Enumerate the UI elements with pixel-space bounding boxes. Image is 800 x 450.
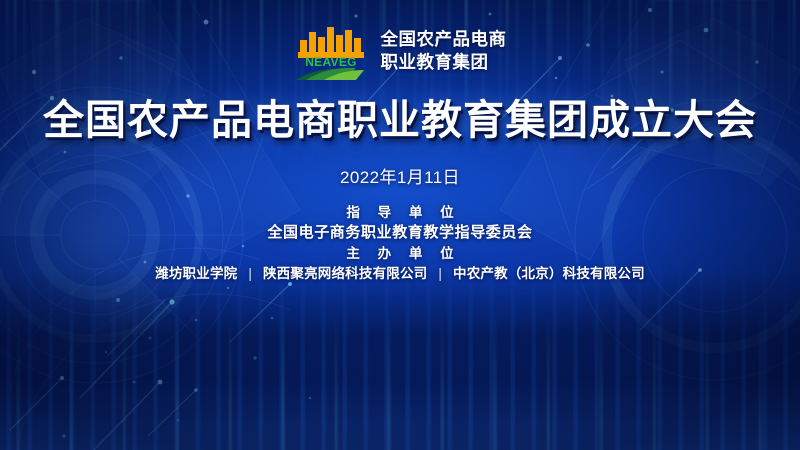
neaveg-logo-icon: NEAVEG — [294, 22, 372, 80]
host-unit-list: 潍坊职业学院 | 陕西聚亮网络科技有限公司 | 中农产教（北京）科技有限公司 — [0, 263, 800, 285]
host-unit-label: 主 办 单 位 — [0, 244, 800, 263]
brand-line-1: 全国农产品电商 — [381, 30, 507, 50]
event-date: 2022年1月11日 — [0, 163, 800, 188]
organizations-block: 指 导 单 位 全国电子商务职业教育教学指导委员会 主 办 单 位 潍坊职业学院… — [0, 203, 800, 285]
guidance-unit-value: 全国电子商务职业教育教学指导委员会 — [0, 222, 800, 244]
page-title: 全国农产品电商职业教育集团成立大会 — [0, 100, 800, 141]
host-item-2: 中农产教（北京）科技有限公司 — [453, 266, 645, 281]
host-separator-0: | — [241, 263, 259, 285]
brand-line-2: 职业教育集团 — [381, 53, 507, 73]
event-poster: NEAVEG 全国农产品电商 职业教育集团 全国农产品电商职业教育集团成立大会 … — [0, 0, 800, 450]
host-item-1: 陕西聚亮网络科技有限公司 — [263, 266, 427, 281]
guidance-unit-label: 指 导 单 位 — [0, 203, 800, 222]
host-item-0: 潍坊职业学院 — [155, 266, 237, 281]
svg-text:NEAVEG: NEAVEG — [305, 55, 357, 69]
brand-name: 全国农产品电商 职业教育集团 — [381, 30, 507, 72]
host-separator-1: | — [431, 263, 449, 285]
brand-lockup: NEAVEG 全国农产品电商 职业教育集团 — [0, 22, 800, 80]
